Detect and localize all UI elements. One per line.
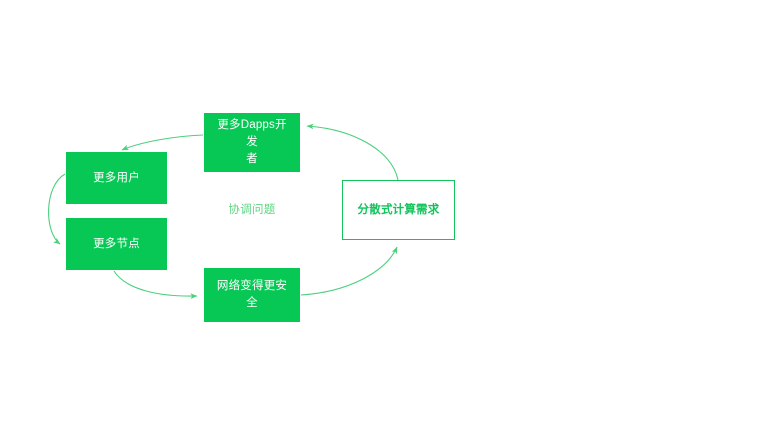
node-label: 更多节点	[85, 236, 148, 253]
node-label: 更多用户	[85, 170, 148, 187]
node-safer-network[interactable]: 网络变得更安全	[204, 268, 300, 322]
node-compute-demand[interactable]: 分散式计算需求	[342, 180, 455, 240]
edge-users-to-nodes	[49, 174, 65, 244]
center-label: 协调问题	[212, 201, 292, 217]
edge-compute-to-dapps	[307, 126, 398, 180]
diagram-canvas: 更多Dapps开发 者 更多用户 更多节点 网络变得更安全 分散式计算需求 协调…	[0, 0, 780, 436]
node-more-users[interactable]: 更多用户	[66, 152, 167, 204]
node-label: 分散式计算需求	[350, 202, 448, 219]
edge-safer-to-compute	[301, 247, 397, 295]
node-label: 更多Dapps开发 者	[204, 117, 300, 167]
node-more-nodes[interactable]: 更多节点	[66, 218, 167, 270]
node-dapps-developers[interactable]: 更多Dapps开发 者	[204, 113, 300, 172]
edge-nodes-to-safer	[114, 271, 197, 296]
node-label: 网络变得更安全	[204, 278, 300, 311]
edge-dapps-to-users	[122, 135, 203, 150]
